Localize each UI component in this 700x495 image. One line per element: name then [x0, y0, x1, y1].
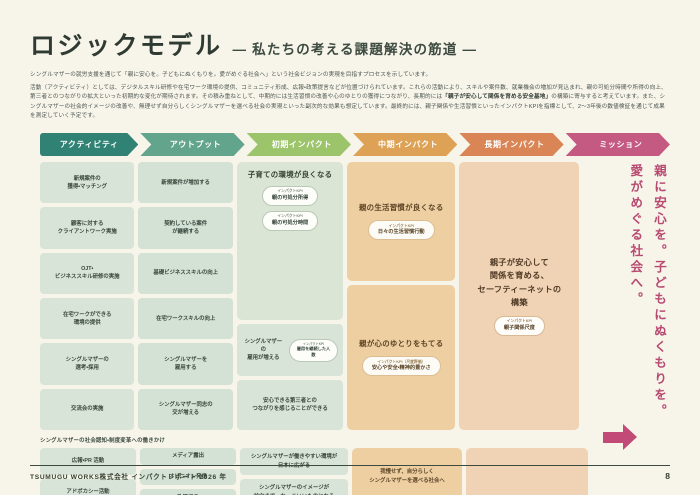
logic-cell: 新規案件が増加する [138, 162, 232, 203]
logic-cell: 在宅ワークができる環境の提供 [40, 298, 134, 339]
mid-impact-panel-lifestyle: 親の生活習慣が良くなる インパクトKPI 日々の生活習慣行動 [347, 162, 455, 281]
logic-model-board: 新規案件の獲得・マッチング顧客に対するクライアントワーク実施OJT・ビジネススキ… [30, 162, 670, 430]
logic-cell: シングルマザー同志の交が増える [138, 389, 232, 430]
stage-4[interactable]: 中期インパクト [353, 133, 457, 156]
logic-cell: 基礎ビジネススキルの向上 [138, 253, 232, 294]
stage-chevron-bar: アクティビティアウトプット初期インパクト中期インパクト長期インパクトミッション [30, 133, 670, 156]
intro-line-2: 活動（アクティビティ）としては、デジタルスキル研修や在宅ワーク環境の提供、コミュ… [30, 84, 670, 122]
kpi-parent-child-relation: インパクトKPI 親子関係尺度 [494, 316, 545, 336]
page-footer: TSUMUGU WORKS株式会社 インパクトレポート 2026 年 8 [30, 465, 670, 481]
kpi-parent-disposable-time: インパクトKPI 親の可処分時間 [262, 211, 318, 231]
logic-cell: 在宅ワークスキルの向上 [138, 298, 232, 339]
column-mission: 親に安心を。子どもにぬくもりを。愛がめぐる社会へ。 [583, 162, 670, 430]
kpi-employment-count: インパクトKPI 雇用を継続した人数 [289, 339, 338, 362]
column-long-impact: 親子が安心して関係を育める、セーフティーネットの構築 インパクトKPI 親子関係… [459, 162, 579, 430]
long-impact-panel: 親子が安心して関係を育める、セーフティーネットの構築 インパクトKPI 親子関係… [459, 162, 579, 430]
stage-2[interactable]: アウトプット [140, 133, 244, 156]
logic-cell: OJT・ビジネススキル研修の実施 [40, 253, 134, 294]
kpi-value: 雇用を継続した人数 [295, 346, 332, 358]
early-impact-connection-cell: 安心できる第三者とのつながりを感じることができる [237, 380, 343, 430]
arrow-head [623, 424, 637, 450]
kpi-label: インパクトKPI [504, 319, 535, 325]
early-impact-employment-cell: シングルマザーの雇用が増える インパクトKPI 雇用を継続した人数 [237, 324, 343, 376]
column-outputs: 新規案件が増加する契約している案件が継続する基礎ビジネススキルの向上在宅ワークス… [138, 162, 232, 430]
early-impact-employment-text: シングルマザーの雇用が増える [242, 338, 285, 362]
mid-impact-title-2: 親が心のゆとりをもてる [359, 339, 443, 350]
kpi-value: 親の可処分所得 [272, 195, 308, 203]
kpi-value: 親の可処分時間 [272, 220, 308, 228]
mid-impact-title-1: 親の生活習慣が良くなる [359, 203, 444, 214]
logic-cell: 政策提言 [140, 489, 236, 495]
logic-cell: 新規案件の獲得・マッチング [40, 162, 134, 203]
early-impact-title: 子育ての環境が良くなる [248, 170, 333, 181]
kpi-parent-disposable-income: インパクトKPI 親の可処分所得 [262, 186, 318, 206]
intro-emphasis: 「親子が安心して関係を育める安全基地」 [442, 94, 551, 100]
mission-statement: 親に安心を。子どもにぬくもりを。愛がめぐる社会へ。 [623, 162, 671, 430]
early-impact-panel: 子育ての環境が良くなる インパクトKPI 親の可処分所得 インパクトKPI 親の… [237, 162, 343, 320]
logic-cell: アドボカシー活動 [40, 479, 136, 495]
stage-6[interactable]: ミッション [566, 133, 670, 156]
intro-paragraphs: シングルマザーの就労支援を通じて「親に安心を。子どもにぬくもりを。愛がめぐる社会… [30, 71, 670, 122]
kpi-value: 日々の生活習慣行動 [378, 229, 425, 237]
mid-impact-panel-peace: 親が心のゆとりをもてる インパクトKPI（尺度評価） 安心や安全・精神的豊かさ [347, 285, 455, 430]
column-mid-impact: 親の生活習慣が良くなる インパクトKPI 日々の生活習慣行動 親が心のゆとりをも… [347, 162, 455, 430]
logic-cell: シングルマザーを雇用する [138, 343, 232, 384]
logic-cell: 交流会の実施 [40, 389, 134, 430]
logic-cell: シングルマザーのイメージが前向きで、かっこいいものになる [240, 479, 348, 495]
page-title: ロジックモデル [30, 26, 223, 62]
logic-cell: シングルマザーの選考・採用 [40, 343, 134, 384]
advocacy-section-label: シングルマザーの社会認知・制度変革への働きかけ [40, 436, 670, 444]
column-activities: 新規案件の獲得・マッチング顧客に対するクライアントワーク実施OJT・ビジネススキ… [40, 162, 134, 430]
stage-5[interactable]: 長期インパクト [459, 133, 563, 156]
page-subtitle: — 私たちの考える課題解決の筋道 — [233, 38, 478, 58]
kpi-daily-habits: インパクトKPI 日々の生活習慣行動 [368, 220, 435, 240]
kpi-value: 親子関係尺度 [504, 325, 535, 333]
logic-cell: メディア露出 [140, 448, 236, 465]
page-number: 8 [665, 471, 670, 481]
mission-text: 親に安心を。子どもにぬくもりを。愛がめぐる社会へ。 [623, 164, 671, 430]
kpi-value: 安心や安全・精神的豊かさ [372, 365, 431, 373]
kpi-safety-wellbeing: インパクトKPI（尺度評価） 安心や安全・精神的豊かさ [362, 356, 441, 376]
arrow-body [603, 432, 625, 443]
column-early-impact: 子育ての環境が良くなる インパクトKPI 親の可処分所得 インパクトKPI 親の… [237, 162, 343, 430]
page-header: ロジックモデル — 私たちの考える課題解決の筋道 — [30, 26, 670, 62]
intro-line-1: シングルマザーの就労支援を通じて「親に安心を。子どもにぬくもりを。愛がめぐる社会… [30, 71, 670, 81]
slide-page: ロジックモデル — 私たちの考える課題解決の筋道 — シングルマザーの就労支援を… [0, 0, 700, 495]
stage-1[interactable]: アクティビティ [40, 133, 138, 156]
logic-cell: 顧客に対するクライアントワーク実施 [40, 207, 134, 248]
long-impact-title: 親子が安心して関係を育める、セーフティーネットの構築 [477, 256, 561, 309]
logic-cell: 契約している案件が継続する [138, 207, 232, 248]
footer-org-label: TSUMUGU WORKS株式会社 インパクトレポート 2026 年 [30, 471, 227, 481]
stage-3[interactable]: 初期インパクト [247, 133, 351, 156]
mission-arrow-icon [603, 424, 637, 450]
